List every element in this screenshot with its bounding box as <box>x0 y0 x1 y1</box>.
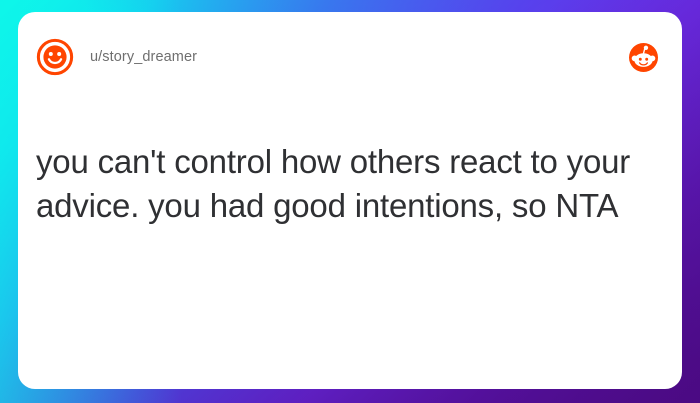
user-avatar[interactable] <box>36 38 74 76</box>
comment-text: you can't control how others react to yo… <box>36 140 658 228</box>
screenshot-root: u/story_dreamer <box>0 0 700 403</box>
reddit-comment-card: u/story_dreamer <box>18 12 682 389</box>
card-body: you can't control how others react to yo… <box>36 140 658 228</box>
username-label[interactable]: u/story_dreamer <box>90 49 197 65</box>
reddit-snoo-logo-icon[interactable] <box>629 43 658 72</box>
card-header: u/story_dreamer <box>18 12 682 102</box>
